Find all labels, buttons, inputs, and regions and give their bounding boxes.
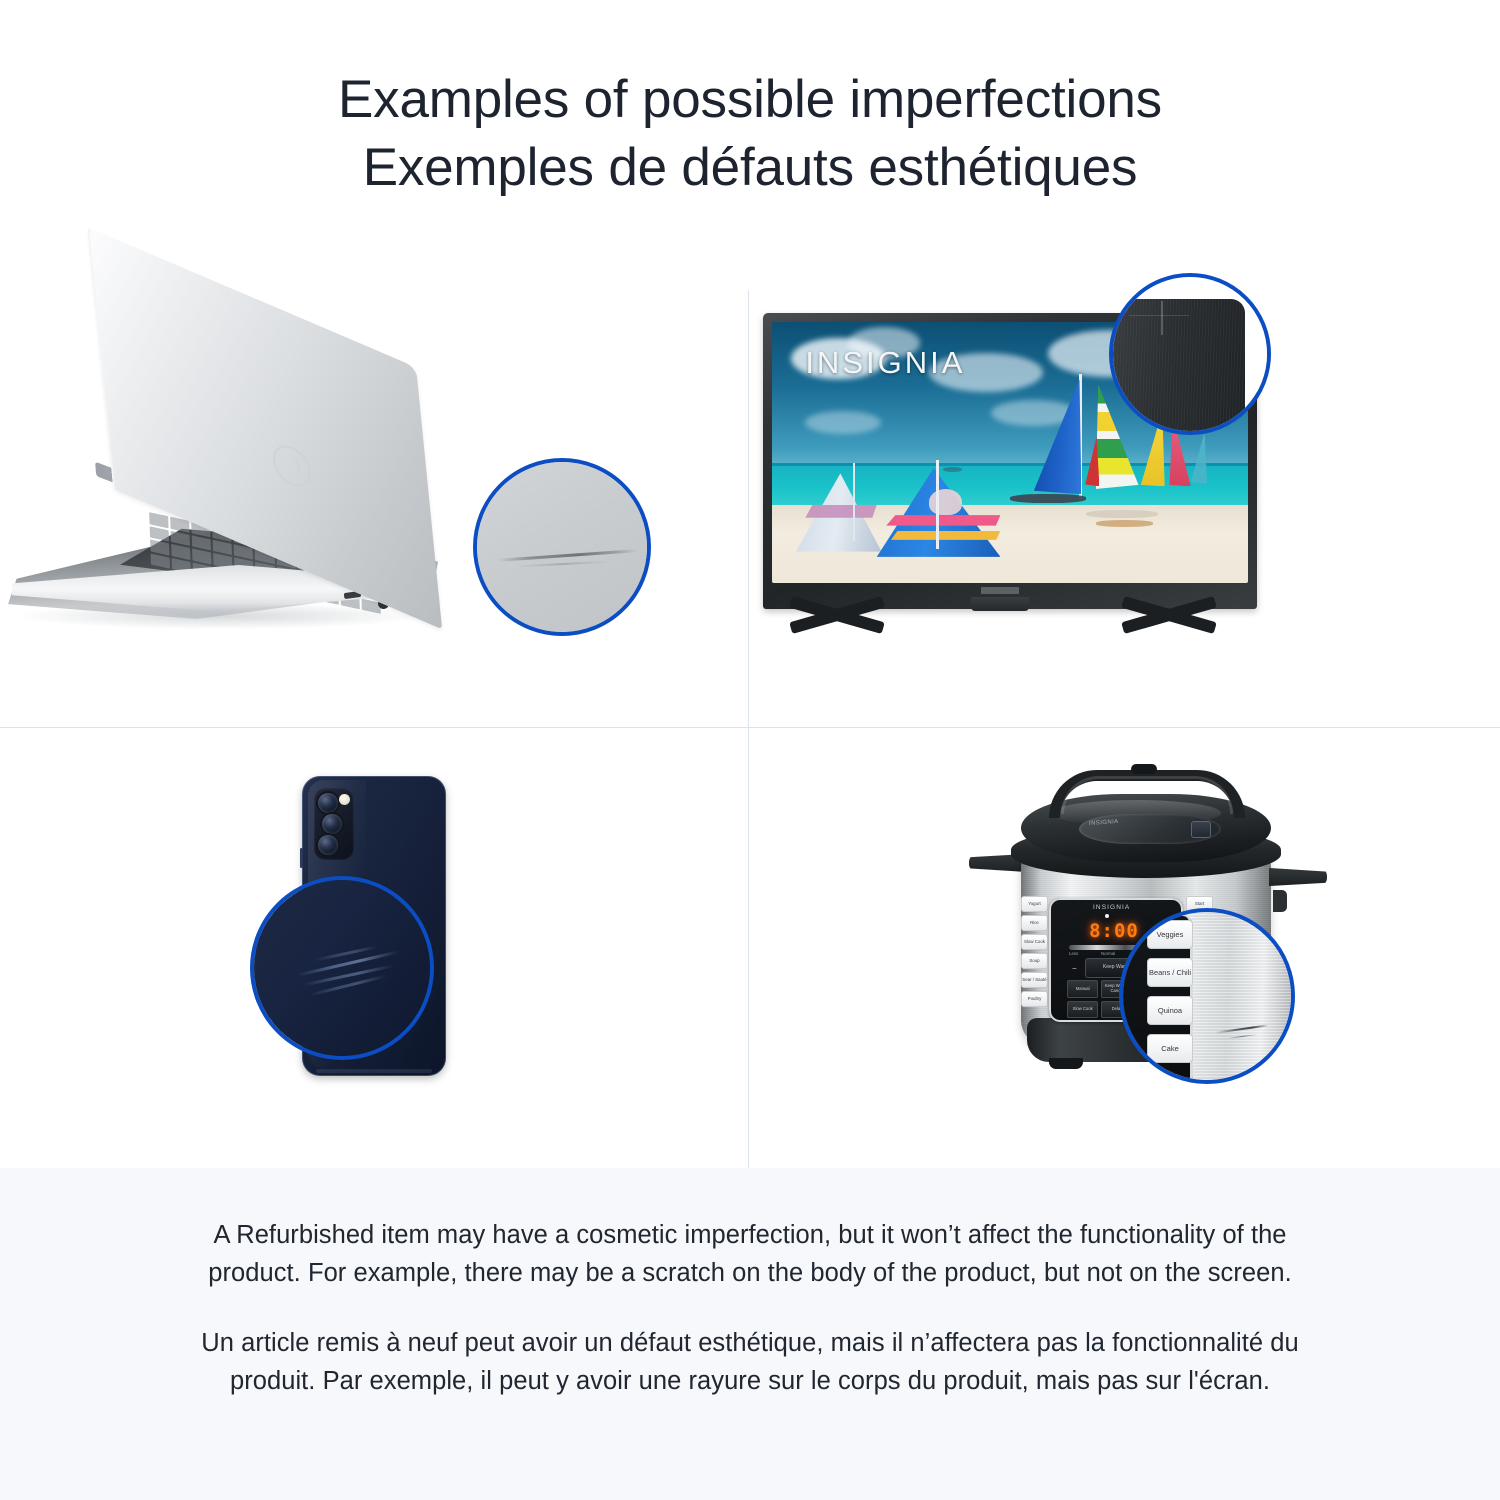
laptop-shadow <box>20 603 420 629</box>
cooker-handle-highlight <box>1061 776 1233 814</box>
television-neck <box>971 597 1029 611</box>
pressure-cooker-illustration: INSIGNIA Yogurt Rice Slow Cook Soup Sear… <box>749 728 1497 1190</box>
screen-mast <box>936 460 939 549</box>
laptop-zoom-surface <box>477 462 647 632</box>
page-title: Examples of possible imperfections Exemp… <box>0 0 1500 265</box>
television-scratch-defect <box>1129 315 1189 316</box>
examples-grid: INSIGNIA <box>0 265 1500 1168</box>
cooker-lid-panel: INSIGNIA <box>1079 814 1221 844</box>
cooker-decrease-button[interactable]: − <box>1072 964 1077 973</box>
smartphone-example-cell <box>0 728 748 1190</box>
cooker-zoom-buttons: Veggies Beans / Chili Quinoa Cake <box>1147 920 1193 1063</box>
cooker-brand-label: INSIGNIA <box>1093 904 1130 911</box>
screen-catamaran-hull <box>1010 494 1086 503</box>
cooker-button[interactable]: Sear / Sauté <box>1021 972 1048 988</box>
footer-paragraph-english: A Refurbished item may have a cosmetic i… <box>180 1216 1320 1293</box>
camera-lens-icon <box>318 835 338 855</box>
screen-foreground-sail-stripe <box>805 505 876 518</box>
magnifier-circle-icon-television <box>1109 273 1271 435</box>
screen-beached-hull <box>1086 510 1157 518</box>
laptop-example-cell <box>0 265 748 727</box>
footer-disclaimer: A Refurbished item may have a cosmetic i… <box>0 1168 1500 1500</box>
television-bezel-seam <box>1161 301 1163 335</box>
footer-paragraph-french: Un article remis à neuf peut avoir un dé… <box>180 1324 1320 1401</box>
refurbished-imperfections-infographic: Examples of possible imperfections Exemp… <box>0 0 1500 1500</box>
smartphone-volume-button <box>300 848 303 868</box>
magnifier-circle-icon-pressure-cooker: Delay Slow Cook Veggies Beans / Chili Qu… <box>1119 908 1295 1084</box>
cooker-button[interactable]: Slow Cook <box>1021 934 1048 950</box>
television-chin-logo-icon <box>981 587 1019 594</box>
cooker-button[interactable]: Soup <box>1021 953 1048 969</box>
screen-foreground-sail-stripe <box>891 531 1000 540</box>
cooker-zoom-side-label: Slow Cook <box>1119 987 1133 1001</box>
cooker-latch <box>1273 890 1287 912</box>
smartphone-illustration <box>0 728 748 1190</box>
smartphone-camera-module <box>314 788 354 860</box>
camera-flash-icon <box>339 794 350 805</box>
cooker-foot <box>1049 1058 1083 1069</box>
cooker-lid-release-button[interactable] <box>1191 821 1211 838</box>
cooker-side-handle <box>1269 868 1327 886</box>
smartphone-zoom-surface <box>254 880 430 1056</box>
smartphone-bottom-edge <box>316 1069 432 1073</box>
cooker-slider-label: Normal <box>1101 951 1115 956</box>
television-zoom-bezel-texture <box>1109 299 1245 435</box>
television-brand-wordmark: INSIGNIA <box>805 345 965 381</box>
television-example-cell: INSIGNIA <box>749 265 1497 727</box>
cooker-indicator-led-icon <box>1105 914 1109 918</box>
cooker-left-button-column: Yogurt Rice Slow Cook Soup Sear / Sauté … <box>1021 896 1048 1007</box>
laptop-illustration <box>0 265 748 727</box>
cooker-steam-valve[interactable] <box>1131 764 1157 774</box>
screen-mast <box>853 463 855 541</box>
cooker-zoom-button[interactable]: Veggies <box>1147 920 1193 949</box>
pressure-cooker-example-cell: INSIGNIA Yogurt Rice Slow Cook Soup Sear… <box>749 728 1497 1190</box>
cooker-button[interactable]: Slow Cook <box>1067 1001 1098 1019</box>
cooker-zoom-button[interactable]: Quinoa <box>1147 996 1193 1025</box>
screen-distant-boat <box>943 467 962 472</box>
page-title-french: Exemples de défauts esthétiques <box>363 134 1138 202</box>
screen-foreground-sail-stripe <box>886 515 1000 525</box>
screen-beached-hull <box>1096 520 1153 526</box>
cooker-lid-panel-text: INSIGNIA <box>1089 819 1119 827</box>
television-illustration: INSIGNIA <box>749 265 1497 727</box>
cooker-zoom-button[interactable]: Beans / Chili <box>1147 958 1193 987</box>
screen-sail-window <box>929 489 962 515</box>
page-title-english: Examples of possible imperfections <box>338 66 1162 134</box>
magnifier-circle-icon-laptop <box>473 458 651 636</box>
camera-lens-icon <box>322 814 342 834</box>
cooker-button[interactable]: Manual <box>1067 980 1098 998</box>
cooker-button[interactable]: Rice <box>1021 915 1048 931</box>
camera-lens-icon <box>318 793 338 813</box>
cooker-button[interactable]: Yogurt <box>1021 896 1048 912</box>
cooker-zoom-button[interactable]: Cake <box>1147 1034 1193 1063</box>
cooker-button[interactable]: Poultry <box>1021 991 1048 1007</box>
cooker-slider-label: Less <box>1069 951 1078 956</box>
magnifier-circle-icon-smartphone <box>250 876 434 1060</box>
